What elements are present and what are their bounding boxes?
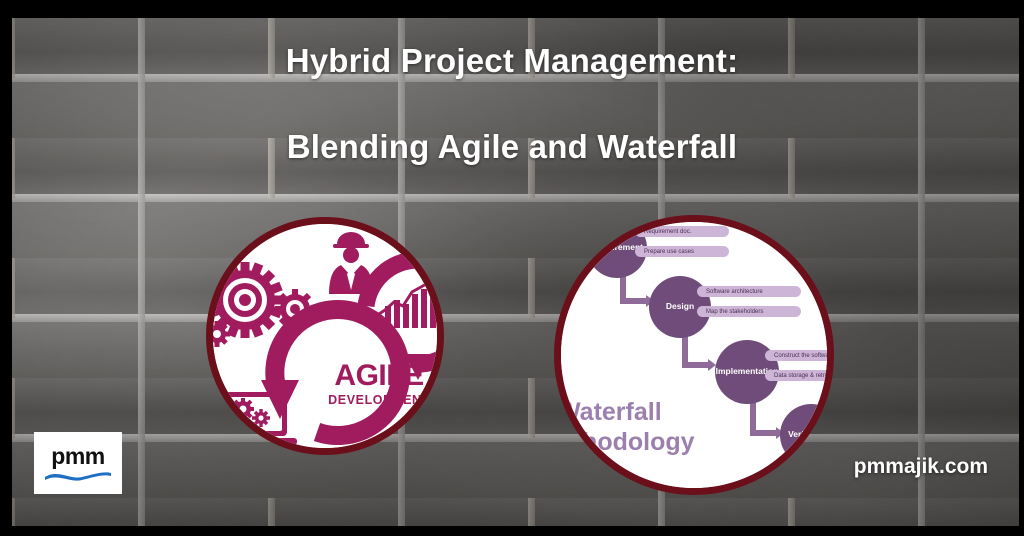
waterfall-artwork: Requirement Requirement doc. Prepare use… bbox=[554, 215, 834, 495]
pmm-logo-text: pmm bbox=[51, 445, 104, 468]
wave-icon bbox=[44, 470, 112, 482]
title-block: Hybrid Project Management: Blending Agil… bbox=[0, 42, 1024, 166]
waterfall-caption-line2: Methodology bbox=[554, 428, 695, 456]
phase-node-verification: Verification bbox=[780, 404, 834, 466]
waterfall-caption-line1: Waterfall bbox=[557, 398, 662, 426]
agile-circle-background: AGILE DEVELOPMENT bbox=[213, 224, 437, 448]
agile-subheading: DEVELOPMENT bbox=[309, 394, 444, 407]
pmm-logo[interactable]: pmm bbox=[34, 432, 122, 494]
agile-artwork: AGILE DEVELOPMENT bbox=[206, 217, 444, 455]
task-implementation-1: Data storage & retrieval bbox=[765, 370, 834, 381]
task-implementation-0: Construct the software bbox=[765, 350, 834, 361]
waterfall-circle-background: Requirement Requirement doc. Prepare use… bbox=[561, 222, 827, 488]
agile-circle: AGILE DEVELOPMENT bbox=[206, 217, 444, 455]
agile-vector-art bbox=[206, 217, 444, 455]
task-design-1: Map the stakeholders bbox=[697, 306, 801, 317]
task-requirement-1: Prepare use cases bbox=[635, 246, 729, 257]
task-requirement-0: Requirement doc. bbox=[635, 226, 729, 237]
title-line-1: Hybrid Project Management: bbox=[0, 42, 1024, 80]
banner-root: Hybrid Project Management: Blending Agil… bbox=[0, 0, 1024, 536]
title-line-2: Blending Agile and Waterfall bbox=[0, 128, 1024, 166]
site-url: pmmajik.com bbox=[854, 455, 988, 479]
waterfall-circle: Requirement Requirement doc. Prepare use… bbox=[554, 215, 834, 495]
agile-heading: AGILE bbox=[309, 361, 444, 391]
task-design-0: Software architecture bbox=[697, 286, 801, 297]
